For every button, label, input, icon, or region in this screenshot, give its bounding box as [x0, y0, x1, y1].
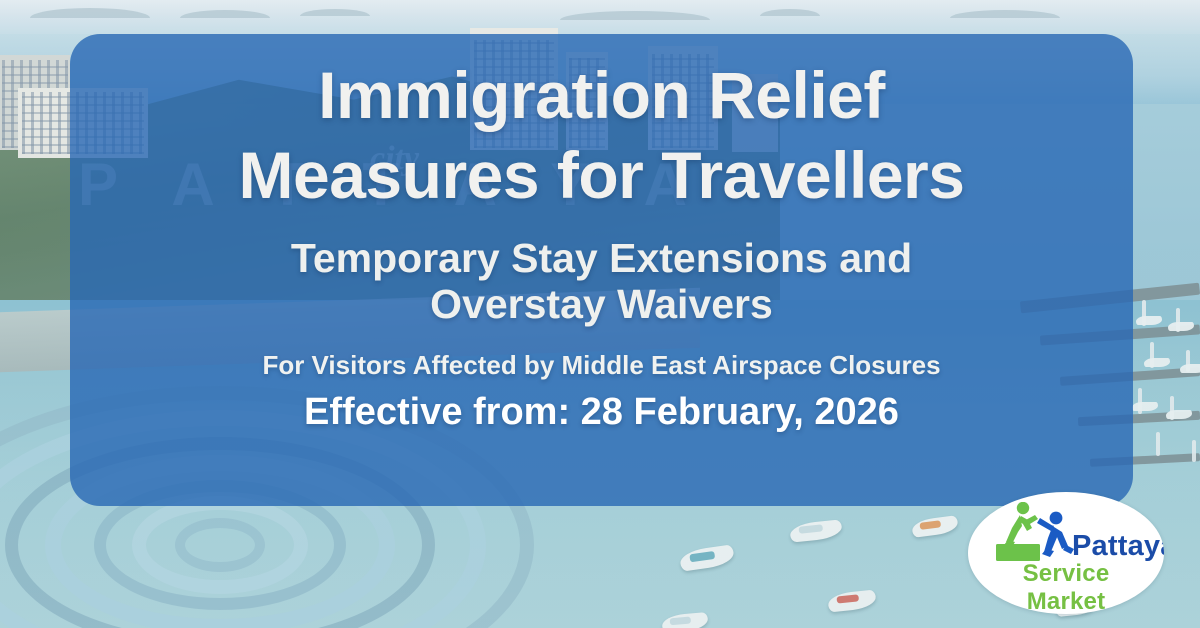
- mooring-pole: [1156, 432, 1160, 456]
- logo-text-pattaya: Pattaya: [1072, 530, 1164, 563]
- banner-subtitle-line-1: Temporary Stay Extensions and: [291, 236, 912, 282]
- banner-effective-date: Effective from: 28 February, 2026: [304, 391, 899, 435]
- moored-boat: [1168, 322, 1194, 331]
- two-figures-helping-up-icon: [988, 502, 1084, 564]
- banner-title-line-2: Measures for Travellers: [239, 142, 965, 210]
- headline-overlay-panel: Immigration Relief Measures for Travelle…: [70, 34, 1133, 506]
- mooring-pole: [1192, 440, 1196, 462]
- distant-islands: [0, 6, 1200, 20]
- promo-banner-canvas: P A T T A Y A city: [0, 0, 1200, 628]
- moored-boat: [1136, 316, 1162, 325]
- brand-logo[interactable]: Pattaya Service Market: [968, 492, 1164, 614]
- moored-boat: [1166, 410, 1192, 419]
- banner-title-line-1: Immigration Relief: [318, 62, 885, 130]
- moored-boat: [1180, 364, 1200, 373]
- logo-text-service-market: Service Market: [986, 560, 1146, 614]
- moored-boat: [1144, 358, 1170, 367]
- banner-subtitle-line-2: Overstay Waivers: [430, 282, 773, 328]
- banner-audience-note: For Visitors Affected by Middle East Air…: [262, 350, 940, 381]
- moored-boat: [1132, 402, 1158, 411]
